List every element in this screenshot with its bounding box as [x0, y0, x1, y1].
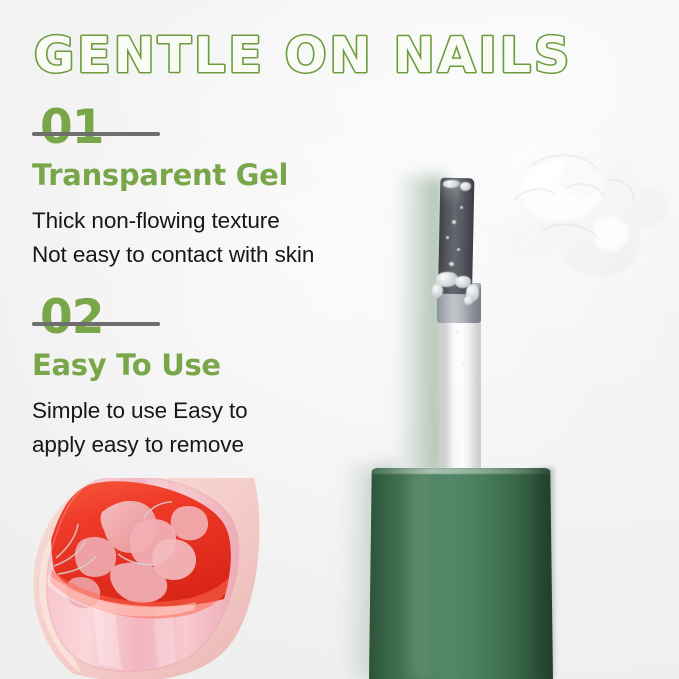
- feature-heading: Transparent Gel: [32, 158, 402, 192]
- stem-drop-shadow: [396, 176, 444, 476]
- feature-block-01: 01 Transparent Gel Thick non-flowing tex…: [32, 106, 402, 272]
- nail-photo: [18, 478, 288, 679]
- brush-stem: [441, 300, 481, 480]
- gel-speck: [460, 206, 463, 209]
- feature-body-line: apply easy to remove: [32, 428, 402, 462]
- feature-body-line: Thick non-flowing texture: [32, 204, 402, 238]
- bottle-cap: [369, 468, 553, 679]
- page-title: GENTLE ON NAILS: [34, 27, 634, 85]
- feature-strikethrough-rule: [32, 322, 160, 326]
- gel-speck: [452, 220, 456, 224]
- feature-number: 02: [40, 292, 103, 344]
- feature-number-row: 01: [32, 106, 402, 156]
- bottle-cap-shading: [530, 468, 553, 679]
- gel-speck: [457, 248, 460, 251]
- feature-body-line: Simple to use Easy to: [32, 394, 402, 428]
- feature-heading: Easy To Use: [32, 348, 402, 382]
- feature-number: 01: [40, 102, 103, 154]
- gel-speck: [446, 236, 449, 239]
- feature-strikethrough-rule: [32, 132, 160, 136]
- gel-speck: [449, 262, 454, 266]
- feature-body: Simple to use Easy to apply easy to remo…: [32, 394, 402, 462]
- bottle-cap-rim: [369, 468, 553, 474]
- feature-block-02: 02 Easy To Use Simple to use Easy to app…: [32, 296, 402, 462]
- feature-number-row: 02: [32, 296, 402, 346]
- gel-speck: [462, 362, 465, 365]
- bottle-cap-highlight: [398, 472, 440, 679]
- gel-speck: [455, 330, 459, 334]
- gel-speck: [450, 404, 454, 407]
- infographic-poster: GENTLE ON NAILS 01 Transparent Gel Thick…: [0, 0, 679, 679]
- feature-body: Thick non-flowing texture Not easy to co…: [32, 204, 402, 272]
- feature-body-line: Not easy to contact with skin: [32, 238, 402, 272]
